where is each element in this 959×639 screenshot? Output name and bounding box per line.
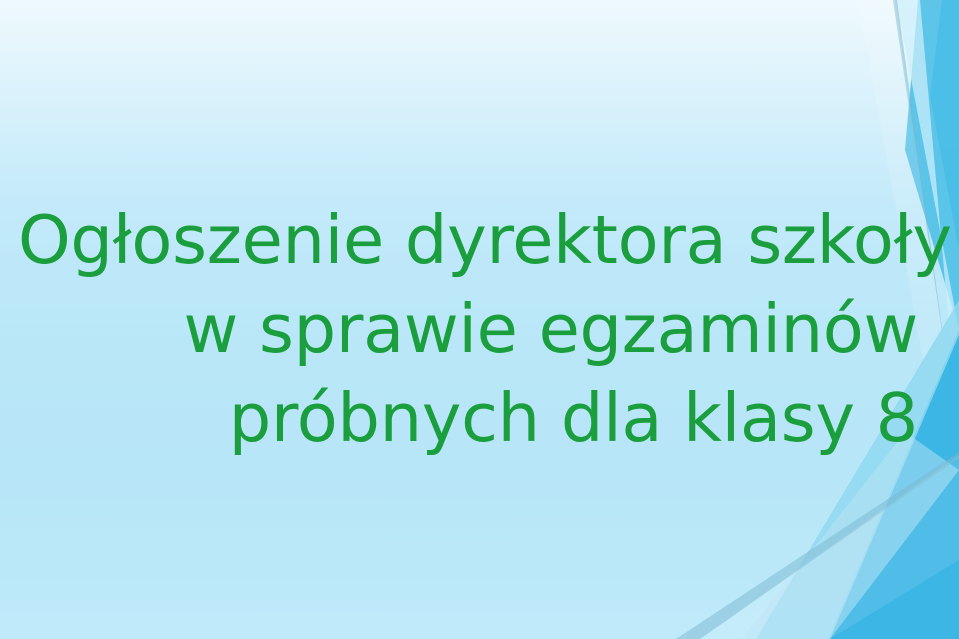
bottom-right-pale-wedge	[742, 432, 959, 639]
title-line-2: w sprawie egzaminów	[18, 285, 918, 374]
title-line-3: próbnych dla klasy 8	[18, 374, 918, 463]
slide-canvas: Ogłoszenie dyrektora szkoły w sprawie eg…	[0, 0, 959, 639]
slide-title: Ogłoszenie dyrektora szkoły w sprawie eg…	[18, 196, 918, 463]
bottom-right-hairline	[676, 452, 959, 639]
title-line-1: Ogłoszenie dyrektora szkoły	[18, 196, 918, 285]
bottom-right-sheen	[700, 455, 959, 639]
